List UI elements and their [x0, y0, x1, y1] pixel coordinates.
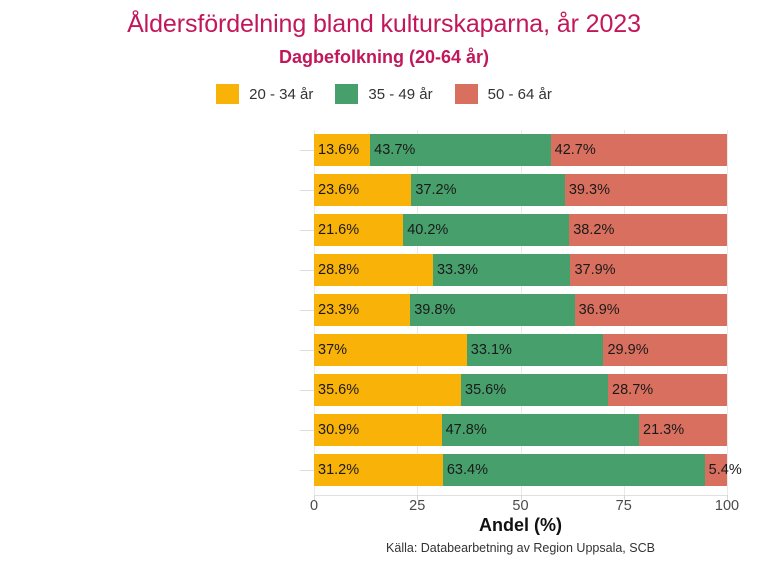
bar-value-label: 28.7%: [612, 383, 653, 398]
bar-rows: 13.6%43.7%42.7%23.6%37.2%39.3%21.6%40.2%…: [314, 130, 727, 495]
y-axis-tick-mark: [300, 430, 314, 431]
bar-segment[interactable]: 37%: [314, 334, 467, 366]
bar-value-label: 33.3%: [437, 263, 478, 278]
bar-row[interactable]: 31.2%63.4%5.4%: [314, 454, 727, 486]
bar-segment[interactable]: 43.7%: [370, 134, 550, 166]
bar-segment[interactable]: 23.6%: [314, 174, 411, 206]
bar-value-label: 21.6%: [318, 223, 359, 238]
x-axis-tick-label: 25: [409, 498, 425, 514]
bar-value-label: 5.4%: [709, 463, 742, 478]
bar-segment[interactable]: 29.9%: [603, 334, 726, 366]
legend-item[interactable]: 20 - 34 år: [216, 84, 313, 104]
bar-value-label: 37.2%: [415, 183, 456, 198]
bar-segment[interactable]: 38.2%: [569, 214, 727, 246]
legend-swatch-icon: [455, 84, 478, 104]
bar-segment[interactable]: 40.2%: [403, 214, 569, 246]
bar-value-label: 28.8%: [318, 263, 359, 278]
bar-value-label: 37.9%: [574, 263, 615, 278]
bar-value-label: 23.6%: [318, 183, 359, 198]
bar-segment[interactable]: 13.6%: [314, 134, 370, 166]
bar-segment[interactable]: 28.8%: [314, 254, 433, 286]
bar-value-label: 43.7%: [374, 143, 415, 158]
bar-segment[interactable]: 30.9%: [314, 414, 442, 446]
bar-value-label: 35.6%: [318, 383, 359, 398]
bar-segment[interactable]: 37.2%: [411, 174, 564, 206]
bar-segment[interactable]: 39.8%: [410, 294, 574, 326]
bar-value-label: 30.9%: [318, 423, 359, 438]
plot-area: 13.6%43.7%42.7%23.6%37.2%39.3%21.6%40.2%…: [314, 130, 727, 495]
bar-value-label: 40.2%: [407, 223, 448, 238]
bar-value-label: 31.2%: [318, 463, 359, 478]
bar-value-label: 23.3%: [318, 303, 359, 318]
legend-label: 35 - 49 år: [368, 86, 432, 103]
bar-row[interactable]: 21.6%40.2%38.2%: [314, 214, 727, 246]
bar-segment[interactable]: 28.7%: [608, 374, 727, 406]
bar-value-label: 13.6%: [318, 143, 359, 158]
y-axis-tick-mark: [300, 150, 314, 151]
bar-value-label: 39.8%: [414, 303, 455, 318]
bar-value-label: 63.4%: [447, 463, 488, 478]
legend-swatch-icon: [216, 84, 239, 104]
bar-segment[interactable]: 33.3%: [433, 254, 571, 286]
legend-item[interactable]: 50 - 64 år: [455, 84, 552, 104]
bar-segment[interactable]: 21.3%: [639, 414, 727, 446]
bar-row[interactable]: 13.6%43.7%42.7%: [314, 134, 727, 166]
chart-container: Åldersfördelning bland kulturskaparna, å…: [0, 0, 768, 576]
bar-row[interactable]: 30.9%47.8%21.3%: [314, 414, 727, 446]
chart-legend: 20 - 34 år35 - 49 år50 - 64 år: [0, 84, 768, 104]
bar-value-label: 42.7%: [555, 143, 596, 158]
y-axis-tick-mark: [300, 350, 314, 351]
bar-row[interactable]: 23.3%39.8%36.9%: [314, 294, 727, 326]
bar-row[interactable]: 23.6%37.2%39.3%: [314, 174, 727, 206]
source-note: Källa: Databearbetning av Region Uppsala…: [314, 541, 727, 555]
bar-segment[interactable]: 35.6%: [461, 374, 608, 406]
x-axis-tick-label: 50: [512, 498, 528, 514]
bar-value-label: 47.8%: [446, 423, 487, 438]
bar-segment[interactable]: 63.4%: [443, 454, 705, 486]
legend-label: 50 - 64 år: [488, 86, 552, 103]
bar-segment[interactable]: 33.1%: [467, 334, 604, 366]
y-axis-tick-mark: [300, 270, 314, 271]
y-axis-tick-mark: [300, 390, 314, 391]
bar-segment[interactable]: 37.9%: [570, 254, 727, 286]
y-axis-tick-mark: [300, 470, 314, 471]
bar-value-label: 33.1%: [471, 343, 512, 358]
bar-value-label: 36.9%: [579, 303, 620, 318]
bar-segment[interactable]: 39.3%: [565, 174, 727, 206]
bar-value-label: 21.3%: [643, 423, 684, 438]
bar-value-label: 29.9%: [607, 343, 648, 358]
bar-row[interactable]: 35.6%35.6%28.7%: [314, 374, 727, 406]
legend-swatch-icon: [335, 84, 358, 104]
gridline: [727, 130, 728, 495]
bar-segment[interactable]: 31.2%: [314, 454, 443, 486]
bar-segment[interactable]: 35.6%: [314, 374, 461, 406]
bar-segment[interactable]: 5.4%: [705, 454, 727, 486]
chart-title: Åldersfördelning bland kulturskaparna, å…: [0, 10, 768, 39]
bar-row[interactable]: 37%33.1%29.9%: [314, 334, 727, 366]
bar-segment[interactable]: 42.7%: [551, 134, 727, 166]
x-axis-tick-label: 0: [310, 498, 318, 514]
bar-segment[interactable]: 47.8%: [442, 414, 639, 446]
bar-value-label: 39.3%: [569, 183, 610, 198]
x-axis-tick-label: 100: [715, 498, 739, 514]
legend-label: 20 - 34 år: [249, 86, 313, 103]
bar-segment[interactable]: 36.9%: [575, 294, 727, 326]
legend-item[interactable]: 35 - 49 år: [335, 84, 432, 104]
bar-value-label: 38.2%: [573, 223, 614, 238]
chart-subtitle: Dagbefolkning (20-64 år): [0, 47, 768, 68]
y-axis-tick-mark: [300, 230, 314, 231]
x-axis-tick-label: 75: [616, 498, 632, 514]
bar-segment[interactable]: 21.6%: [314, 214, 403, 246]
x-axis-label: Andel (%): [314, 515, 727, 536]
bar-segment[interactable]: 23.3%: [314, 294, 410, 326]
y-axis-tick-mark: [300, 190, 314, 191]
bar-value-label: 37%: [318, 343, 347, 358]
bar-row[interactable]: 28.8%33.3%37.9%: [314, 254, 727, 286]
bar-value-label: 35.6%: [465, 383, 506, 398]
y-axis-tick-mark: [300, 310, 314, 311]
